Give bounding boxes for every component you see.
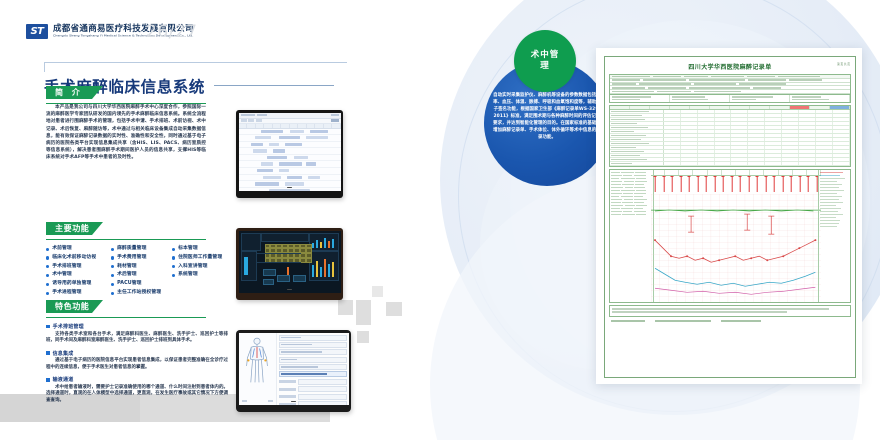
feature-item[interactable]: 术前管理 xyxy=(46,246,106,251)
section-tab: 主要功能 xyxy=(46,222,206,235)
feature-item[interactable]: 手术费用管理 xyxy=(111,255,167,260)
feature-label: 诱导用药单独管理 xyxy=(52,281,91,286)
feature-label: 耗材管理 xyxy=(117,264,137,269)
feature-label: 麻醉质量管理 xyxy=(117,246,146,251)
deco-square xyxy=(338,300,353,315)
summary-cell xyxy=(730,95,790,102)
record-sheet-title: 四川大学华西医院麻醉记录单 xyxy=(605,57,855,71)
infusion-form-app xyxy=(239,333,349,405)
special-block-head: 信息集成 xyxy=(46,350,228,357)
record-sheet-signatures xyxy=(611,320,849,322)
feature-label: 住院医师工作量管理 xyxy=(178,255,222,260)
bullet-icon xyxy=(111,292,114,295)
body-figure-panel[interactable] xyxy=(239,333,277,405)
feature-item[interactable]: PACU管理 xyxy=(111,281,167,286)
summary-row xyxy=(609,95,851,103)
bullet-icon xyxy=(172,256,175,259)
feature-label: PACU管理 xyxy=(117,281,141,286)
title-underline xyxy=(214,85,334,86)
monitor-chin xyxy=(239,184,341,191)
drug-administration-table xyxy=(609,105,851,167)
section-tab: 特色功能 xyxy=(46,300,206,313)
bullet-icon xyxy=(111,248,114,251)
bullet-icon xyxy=(46,256,49,259)
intro-text: 本产品是我公司与四川大学华西医院麻醉手术中心深度合作，参照国际一流的麻醉医学专家… xyxy=(46,104,206,162)
form-field[interactable] xyxy=(279,357,347,363)
special-block-head: 输液通道 xyxy=(46,376,228,383)
dashboard-chip[interactable] xyxy=(263,279,274,285)
table-row[interactable] xyxy=(239,161,341,168)
feature-label: 主任工作站授权管理 xyxy=(117,290,161,295)
feature-item[interactable]: 术后管理 xyxy=(111,272,167,277)
meta-row xyxy=(610,90,850,94)
column-header xyxy=(290,124,299,128)
feature-item[interactable]: 住院医师工作量管理 xyxy=(172,255,228,260)
dashboard-chip[interactable] xyxy=(277,275,290,282)
feature-label: 术前管理 xyxy=(52,246,72,251)
feature-item[interactable]: 标本管理 xyxy=(172,246,228,251)
bullet-icon xyxy=(172,248,175,251)
special-block: 手术排班管理 支持各类手术室和各台手术，满足麻醉科医生、麻醉医生、洗手护士、巡回… xyxy=(46,323,228,345)
form-panel xyxy=(277,333,349,405)
titlebar-item xyxy=(257,114,267,116)
bullet-icon xyxy=(46,248,49,251)
monitor-chin xyxy=(239,286,341,293)
dashboard-panel[interactable] xyxy=(241,233,261,251)
tab-triangle xyxy=(92,222,103,235)
room-status-grid[interactable] xyxy=(265,244,312,263)
toolbar-button[interactable] xyxy=(256,119,262,121)
section-rule xyxy=(46,317,206,318)
table-row[interactable] xyxy=(239,142,341,149)
feature-grid: 术前管理 临床化术前移动访视 手术排班管理 术中管理 诱导用药单独管理 手术进程… xyxy=(46,246,228,295)
bullet-icon xyxy=(111,283,114,286)
vitals-plot xyxy=(651,170,821,302)
column-header xyxy=(298,124,307,128)
feature-item[interactable]: 入科宣讲管理 xyxy=(172,264,228,269)
square-bullet-icon xyxy=(46,378,50,382)
feature-label: 标本管理 xyxy=(178,246,198,251)
special-block-title: 手术排班管理 xyxy=(53,323,84,330)
bullet-icon xyxy=(111,256,114,259)
section-tab-label: 主要功能 xyxy=(55,223,89,234)
column-header xyxy=(332,124,341,128)
special-block-text: 术中给患者输液时，需要护士记录准确使用的哪个通道、什么时间注射到患者体内的。选择… xyxy=(46,385,228,405)
feature-item[interactable]: 系统管理 xyxy=(172,272,228,277)
feature-label: 系统管理 xyxy=(178,272,198,277)
page-number: 26/27 xyxy=(146,22,198,42)
device-mockup-scheduling xyxy=(236,110,343,198)
table-row[interactable] xyxy=(239,155,341,162)
badge-label: 术中管理 xyxy=(528,50,562,72)
deco-square xyxy=(357,331,369,343)
logo-mark: ST xyxy=(26,24,48,39)
special-block-text: 支持各类手术室和各台手术，满足麻醉科医生、麻醉医生、洗手护士、巡回护士等排班，同… xyxy=(46,332,228,345)
graph-y-axis xyxy=(610,170,654,302)
special-block-title: 信息集成 xyxy=(53,350,74,357)
anesthesia-record-sheet: 第 页 共 页 四川大学华西医院麻醉记录单 xyxy=(604,56,856,378)
form-field[interactable] xyxy=(279,349,347,355)
column-header xyxy=(273,124,282,128)
feature-item[interactable]: 耗材管理 xyxy=(111,264,167,269)
feature-label: 手术排班管理 xyxy=(52,264,81,269)
column-header xyxy=(281,124,290,128)
human-body-icon xyxy=(244,337,270,385)
toolbar-button[interactable] xyxy=(241,119,247,121)
dashboard-panel[interactable] xyxy=(261,233,309,242)
tab-triangle xyxy=(92,300,103,313)
monitor-chin xyxy=(239,398,349,405)
feature-item[interactable]: 诱导用药单独管理 xyxy=(46,281,106,286)
titlebar-item xyxy=(241,114,255,116)
section-tab: 简 介 xyxy=(46,86,206,99)
special-block-title: 输液通道 xyxy=(53,376,74,383)
table-row[interactable] xyxy=(239,129,341,136)
square-bullet-icon xyxy=(46,351,50,355)
feature-item[interactable]: 麻醉质量管理 xyxy=(111,246,167,251)
column-header xyxy=(256,124,265,128)
feature-label: 入科宣讲管理 xyxy=(178,264,207,269)
column-header xyxy=(307,124,316,128)
bullet-icon xyxy=(172,265,175,268)
column-header xyxy=(315,124,324,128)
bullet-icon xyxy=(46,283,49,286)
special-block-head: 手术排班管理 xyxy=(46,323,228,330)
intro-section-tab: 简 介 xyxy=(46,86,206,104)
bullet-icon xyxy=(111,265,114,268)
device-mockup-dashboard xyxy=(236,228,343,300)
feature-label: 术后管理 xyxy=(117,272,137,277)
deco-square xyxy=(356,300,371,325)
form-field[interactable] xyxy=(279,335,347,341)
feature-label: 手术费用管理 xyxy=(117,255,146,260)
special-functions-section: 特色功能 手术排班管理 支持各类手术室和各台手术，满足麻醉科医生、麻醉医生、洗手… xyxy=(46,300,228,405)
table-row[interactable] xyxy=(239,175,341,182)
dashboard-chip[interactable] xyxy=(293,275,306,282)
special-block: 输液通道 术中给患者输液时，需要护士记录准确使用的哪个通道、什么时间注射到患者体… xyxy=(46,376,228,404)
schedule-rows xyxy=(239,129,341,188)
feature-item[interactable]: 手术排班管理 xyxy=(46,264,106,269)
form-row[interactable] xyxy=(279,379,347,385)
form-field[interactable] xyxy=(279,364,347,370)
section-rule xyxy=(46,239,206,240)
record-sheet-notes xyxy=(609,305,851,317)
toolbar-button[interactable] xyxy=(331,119,339,121)
dashboard-chip[interactable] xyxy=(263,269,276,276)
table-row[interactable] xyxy=(239,168,341,175)
special-block-text: 通过基于电子病历的医院信息平台实现患者信息集成，以保证患者完整准确在全诊疗过程中… xyxy=(46,358,228,371)
drug-row xyxy=(610,162,850,166)
column-header xyxy=(264,124,273,128)
screen-dashboard xyxy=(239,231,341,293)
special-block: 信息集成 通过基于电子病历的医院信息平台实现患者信息集成，以保证患者完整准确在全… xyxy=(46,350,228,372)
record-sheet-subtitle: 第 页 共 页 xyxy=(837,62,850,66)
section-tab-label: 特色功能 xyxy=(55,301,89,312)
callout-text: 自动实时采集监护仪、麻醉机等设备的参数数据包括心率、血压、体温、脉搏、呼吸和血氧… xyxy=(492,92,602,141)
screen-infusion-form xyxy=(239,333,349,405)
titlebar-item xyxy=(331,114,339,116)
special-block-body: 通过基于电子病历的医院信息平台实现患者信息集成，以保证患者完整准确在全诊疗过程中… xyxy=(46,358,228,371)
patient-meta-table xyxy=(609,74,851,95)
square-bullet-icon xyxy=(46,325,50,329)
bullet-icon xyxy=(172,274,175,277)
feature-column: 麻醉质量管理 手术费用管理 耗材管理 术后管理 PACU管理 主任工作站授权管理 xyxy=(111,246,167,295)
summary-cell xyxy=(670,95,730,102)
vitals-graph xyxy=(609,169,851,303)
main-functions-section: 主要功能 术前管理 临床化术前移动访视 手术排班管理 术中管理 诱导用药单独管理… xyxy=(46,222,228,295)
dashboard-app xyxy=(239,231,341,293)
screen-scheduling xyxy=(239,113,341,191)
column-header xyxy=(247,124,256,128)
intro-paragraph: 本产品是我公司与四川大学华西医院麻醉手术中心深度合作，参照国际一流的麻醉医学专家… xyxy=(46,104,206,162)
summary-cell xyxy=(610,95,670,102)
badge-intraoperative: 术中管理 xyxy=(514,30,576,92)
form-row[interactable] xyxy=(279,386,347,392)
brochure-page: ST 成都省通商易医疗科技发展有限公司 Chengdu Sheng Tongsh… xyxy=(0,0,880,440)
table-row[interactable] xyxy=(239,148,341,155)
feature-column: 术前管理 临床化术前移动访视 手术排班管理 术中管理 诱导用药单独管理 手术进程… xyxy=(46,246,106,295)
column-header xyxy=(324,124,333,128)
callout-description: 自动实时采集监护仪、麻醉机等设备的参数数据包括心率、血压、体温、脉搏、呼吸和血氧… xyxy=(492,92,602,141)
feature-label: 手术进程管理 xyxy=(52,290,81,295)
bullet-icon xyxy=(46,265,49,268)
table-row[interactable] xyxy=(239,135,341,142)
deco-square xyxy=(372,286,383,297)
device-mockup-infusion-form xyxy=(236,330,351,412)
special-block-body: 支持各类手术室和各台手术，满足麻醉科医生、麻醉医生、洗手护士、巡回护士等排班，同… xyxy=(46,332,228,345)
bullet-icon xyxy=(111,274,114,277)
form-field-selected[interactable] xyxy=(279,371,347,377)
column-header xyxy=(239,124,248,128)
toolbar-button[interactable] xyxy=(248,119,254,121)
feature-label: 临床化术前移动访视 xyxy=(52,255,96,260)
feature-item[interactable]: 手术进程管理 xyxy=(46,290,106,295)
scheduling-app xyxy=(239,113,341,191)
feature-label: 术中管理 xyxy=(52,272,72,277)
feature-item[interactable]: 术中管理 xyxy=(46,272,106,277)
graph-legend xyxy=(818,170,850,302)
feature-item[interactable]: 临床化术前移动访视 xyxy=(46,255,106,260)
deco-square xyxy=(386,302,402,316)
tab-triangle xyxy=(92,86,103,99)
form-field[interactable] xyxy=(279,342,347,348)
title-rule xyxy=(44,62,347,72)
section-tab-label: 简 介 xyxy=(55,87,83,98)
summary-cell xyxy=(790,95,850,102)
special-block-body: 术中给患者输液时，需要护士记录准确使用的哪个通道、什么时间注射到患者体内的。选择… xyxy=(46,385,228,405)
bullet-icon xyxy=(46,292,49,295)
feature-item[interactable]: 主任工作站授权管理 xyxy=(111,290,167,295)
bullet-icon xyxy=(46,274,49,277)
feature-column: 标本管理 住院医师工作量管理 入科宣讲管理 系统管理 xyxy=(172,246,228,295)
